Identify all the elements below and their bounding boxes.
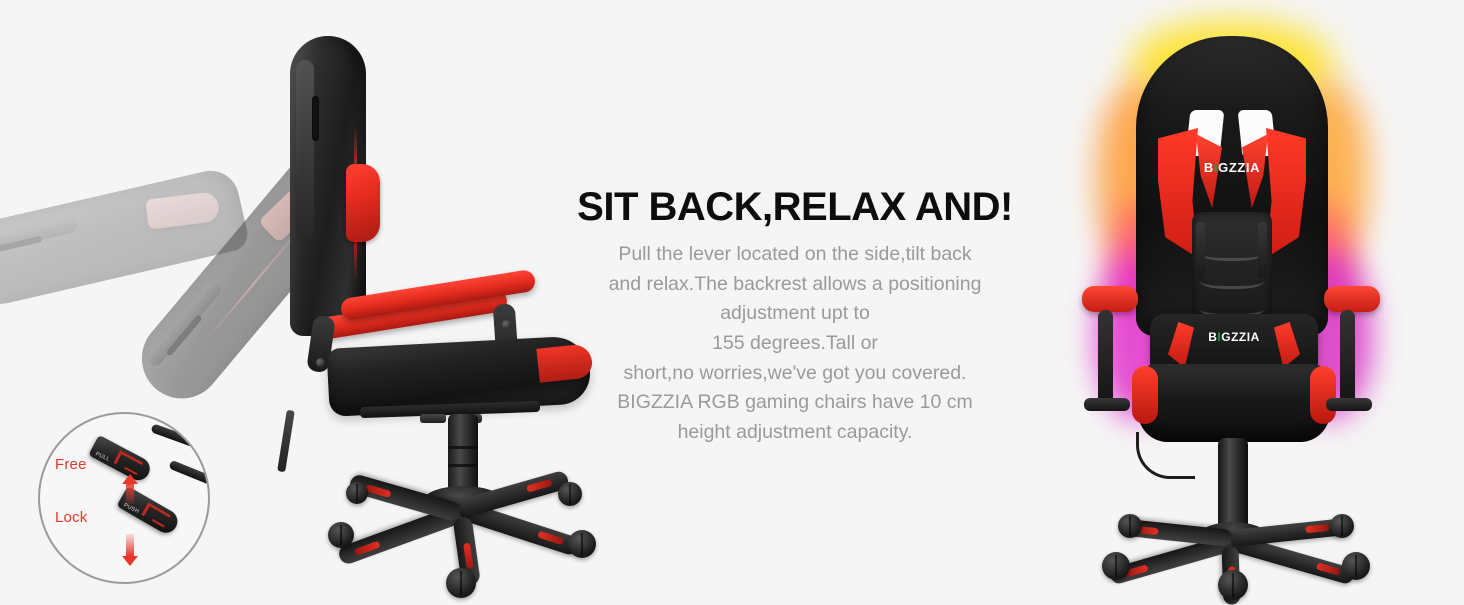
lumbar-red-wing-right	[1274, 322, 1300, 368]
right-chair-rgb-front-view: BIGZZIA BIGZZIA	[1040, 14, 1420, 589]
base-leg-accent	[526, 479, 553, 493]
base-leg-accent	[1316, 562, 1341, 575]
rgb-seat-cushion	[1138, 364, 1330, 442]
armrest-bolt-a	[316, 358, 325, 367]
page-title: SIT BACK,RELAX AND!	[540, 186, 1050, 228]
base-leg-accent	[463, 543, 474, 570]
free-label: Free	[55, 456, 87, 473]
lever-tag-pull: PULL	[94, 451, 110, 463]
rgb-caster-wheel	[1118, 514, 1142, 538]
armrest-bracket	[1326, 398, 1372, 411]
body-line: and relax.The backrest allows a position…	[540, 270, 1050, 300]
marketing-copy-block: SIT BACK,RELAX AND! Pull the lever locat…	[540, 186, 1050, 447]
arrow-head	[122, 556, 138, 566]
product-feature-banner: Free Lock PULL PUSH SIT BACK,RELAX AND! …	[0, 0, 1464, 600]
armrest-post	[1098, 310, 1113, 406]
armrest-pad	[1082, 286, 1138, 312]
gas-cylinder-ring	[448, 446, 478, 449]
lock-label: Lock	[55, 509, 88, 526]
lever-glyph	[141, 503, 171, 528]
gas-cylinder-ring	[448, 464, 478, 467]
rgb-armrest-right	[1324, 286, 1380, 312]
backrest-wing	[296, 60, 314, 240]
base-leg-accent	[354, 541, 381, 556]
lumbar-red-wing-left	[1168, 322, 1194, 368]
rgb-power-cable	[1136, 432, 1195, 479]
caster-wheel	[446, 568, 476, 598]
brand-text: BIGZZIA	[1204, 160, 1260, 175]
free-lock-lever-diagram: Free Lock PULL PUSH	[38, 412, 210, 584]
rgb-caster-wheel	[1218, 570, 1248, 600]
lever-handle-free[interactable]: PULL	[88, 435, 154, 484]
tilt-tension-lever[interactable]	[277, 410, 295, 472]
backrest-red-wing-right	[1266, 128, 1306, 258]
panel-chevron	[1200, 242, 1264, 261]
base-leg-accent	[537, 531, 564, 546]
height-adjust-lever[interactable]	[420, 414, 446, 423]
armrest-pad	[1324, 286, 1380, 312]
panel-chevron	[1200, 270, 1264, 289]
rgb-backrest: BIGZZIA	[1136, 36, 1328, 336]
caster-wheel	[568, 530, 596, 558]
down-arrow-icon	[122, 534, 138, 566]
body-line: height adjustment capacity.	[540, 418, 1050, 448]
body-line: 155 degrees.Tall or	[540, 329, 1050, 359]
caster-wheel	[346, 482, 368, 504]
rgb-caster-wheel	[1102, 552, 1130, 580]
caster-wheel	[558, 482, 582, 506]
arrow-shaft	[126, 482, 134, 504]
base-leg-accent	[365, 484, 392, 498]
lever-glyph	[114, 451, 144, 476]
backrest-slot	[312, 96, 319, 141]
brand-text: BIGZZIA	[1208, 330, 1260, 344]
caster-wheel	[328, 522, 354, 548]
body-line: adjustment upt to	[540, 299, 1050, 329]
rgb-caster-wheel	[1342, 552, 1370, 580]
arrow-shaft	[126, 534, 134, 556]
armrest-bolt-b	[502, 320, 511, 329]
seat-bolster-right	[1310, 366, 1336, 424]
backrest-strap-left	[1196, 222, 1205, 278]
armrest-post	[1340, 310, 1355, 406]
headrest-brand-logo: BIGZZIA	[1136, 160, 1328, 175]
seat-bolster-left	[1132, 366, 1158, 424]
armrest-bracket	[1084, 398, 1130, 411]
brand-accent-letter: I	[1217, 330, 1221, 344]
lumbar-cushion-solid	[346, 164, 380, 242]
backrest-wing	[145, 279, 223, 368]
body-copy: Pull the lever located on the side,tilt …	[540, 240, 1050, 447]
body-line: BIGZZIA RGB gaming chairs have 10 cm	[540, 388, 1050, 418]
brand-accent-letter: I	[1214, 160, 1218, 175]
rgb-armrest-left	[1082, 286, 1138, 312]
body-line: short,no worries,we've got you covered.	[540, 359, 1050, 389]
lumbar-brand-logo: BIGZZIA	[1150, 330, 1318, 344]
rgb-caster-wheel	[1330, 514, 1354, 538]
up-arrow-icon	[122, 474, 138, 506]
base-leg-accent	[1305, 524, 1330, 533]
backrest-strap-right	[1258, 222, 1267, 278]
body-line: Pull the lever located on the side,tilt …	[540, 240, 1050, 270]
